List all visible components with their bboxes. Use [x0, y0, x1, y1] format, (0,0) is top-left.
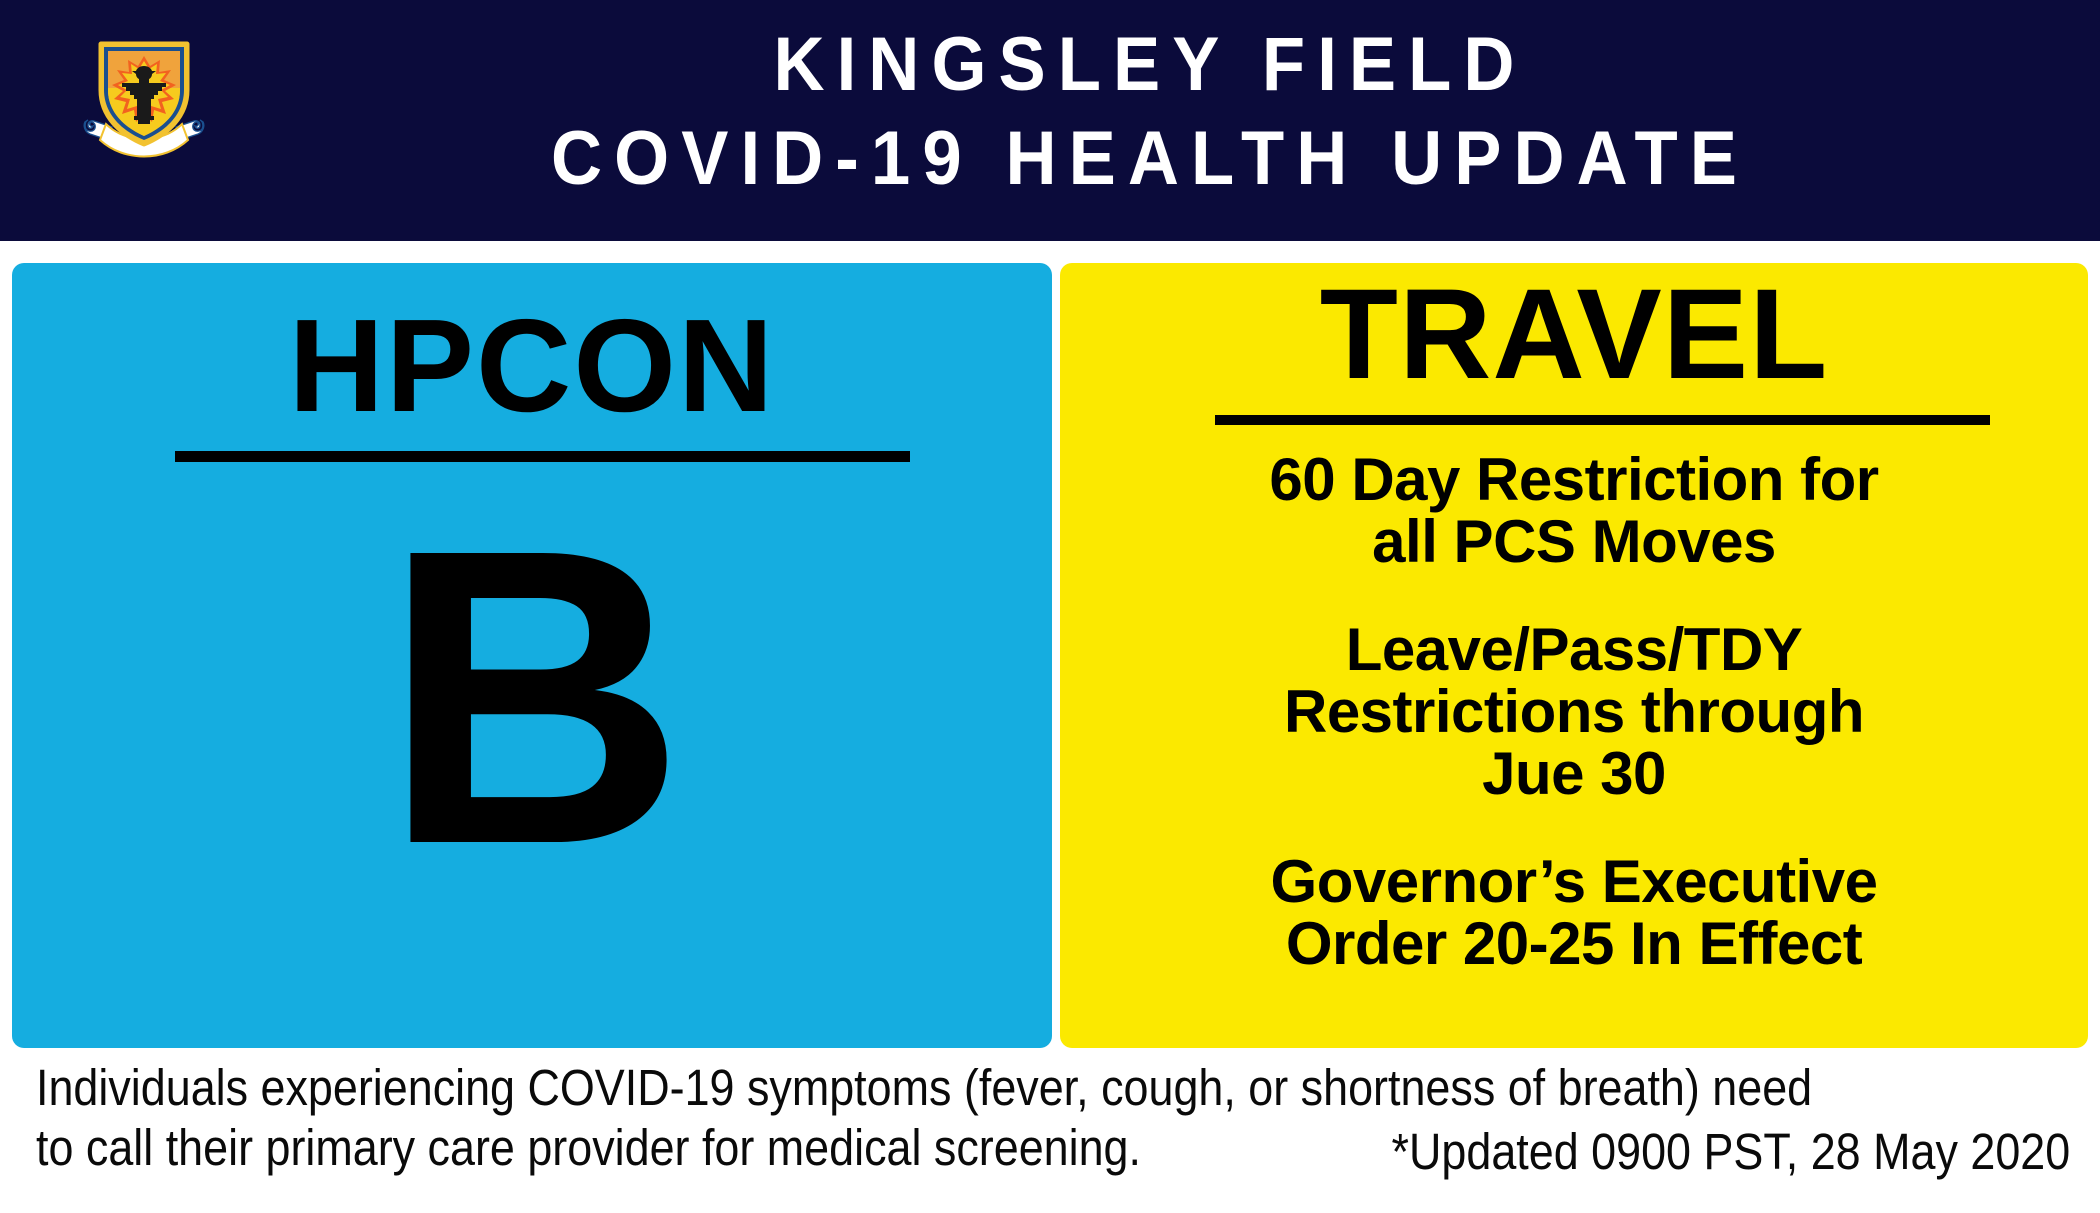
- travel-line: 60 Day Restriction for: [1090, 449, 2058, 511]
- hpcon-title-underline: [175, 451, 910, 462]
- travel-line: Order 20-25 In Effect: [1090, 913, 2058, 975]
- hpcon-title: HPCON: [12, 291, 1052, 441]
- travel-block: 60 Day Restriction for all PCS Moves: [1090, 449, 2058, 573]
- footer-updated-timestamp: *Updated 0900 PST, 28 May 2020: [1391, 1122, 2070, 1182]
- covid-health-update-poster: KINGSLEY FIELD COVID-19 HEALTH UPDATE HP…: [0, 0, 2100, 1213]
- header-title-line2: COVID-19 HEALTH UPDATE: [360, 112, 1941, 206]
- travel-line: Jue 30: [1090, 743, 2058, 805]
- hpcon-level-value: B: [12, 463, 1052, 933]
- travel-block: Leave/Pass/TDY Restrictions through Jue …: [1090, 619, 2058, 805]
- hpcon-panel: HPCON B: [12, 263, 1052, 1048]
- header-title-group: KINGSLEY FIELD COVID-19 HEALTH UPDATE: [300, 18, 2000, 206]
- travel-title-underline: [1215, 415, 1990, 425]
- travel-line: all PCS Moves: [1090, 511, 2058, 573]
- header-title-line1: KINGSLEY FIELD: [360, 18, 1941, 112]
- travel-line: Restrictions through: [1090, 681, 2058, 743]
- travel-block: Governor’s Executive Order 20-25 In Effe…: [1090, 851, 2058, 975]
- travel-line: Leave/Pass/TDY: [1090, 619, 2058, 681]
- header-bar: KINGSLEY FIELD COVID-19 HEALTH UPDATE: [0, 0, 2100, 241]
- 173d-fighter-wing-emblem-icon: [82, 28, 206, 162]
- travel-line: Governor’s Executive: [1090, 851, 2058, 913]
- travel-title: TRAVEL: [1060, 259, 2088, 411]
- travel-panel: TRAVEL 60 Day Restriction for all PCS Mo…: [1060, 263, 2088, 1048]
- travel-blocks: 60 Day Restriction for all PCS Moves Lea…: [1090, 449, 2058, 975]
- footer: Individuals experiencing COVID-19 sympto…: [0, 1058, 2100, 1213]
